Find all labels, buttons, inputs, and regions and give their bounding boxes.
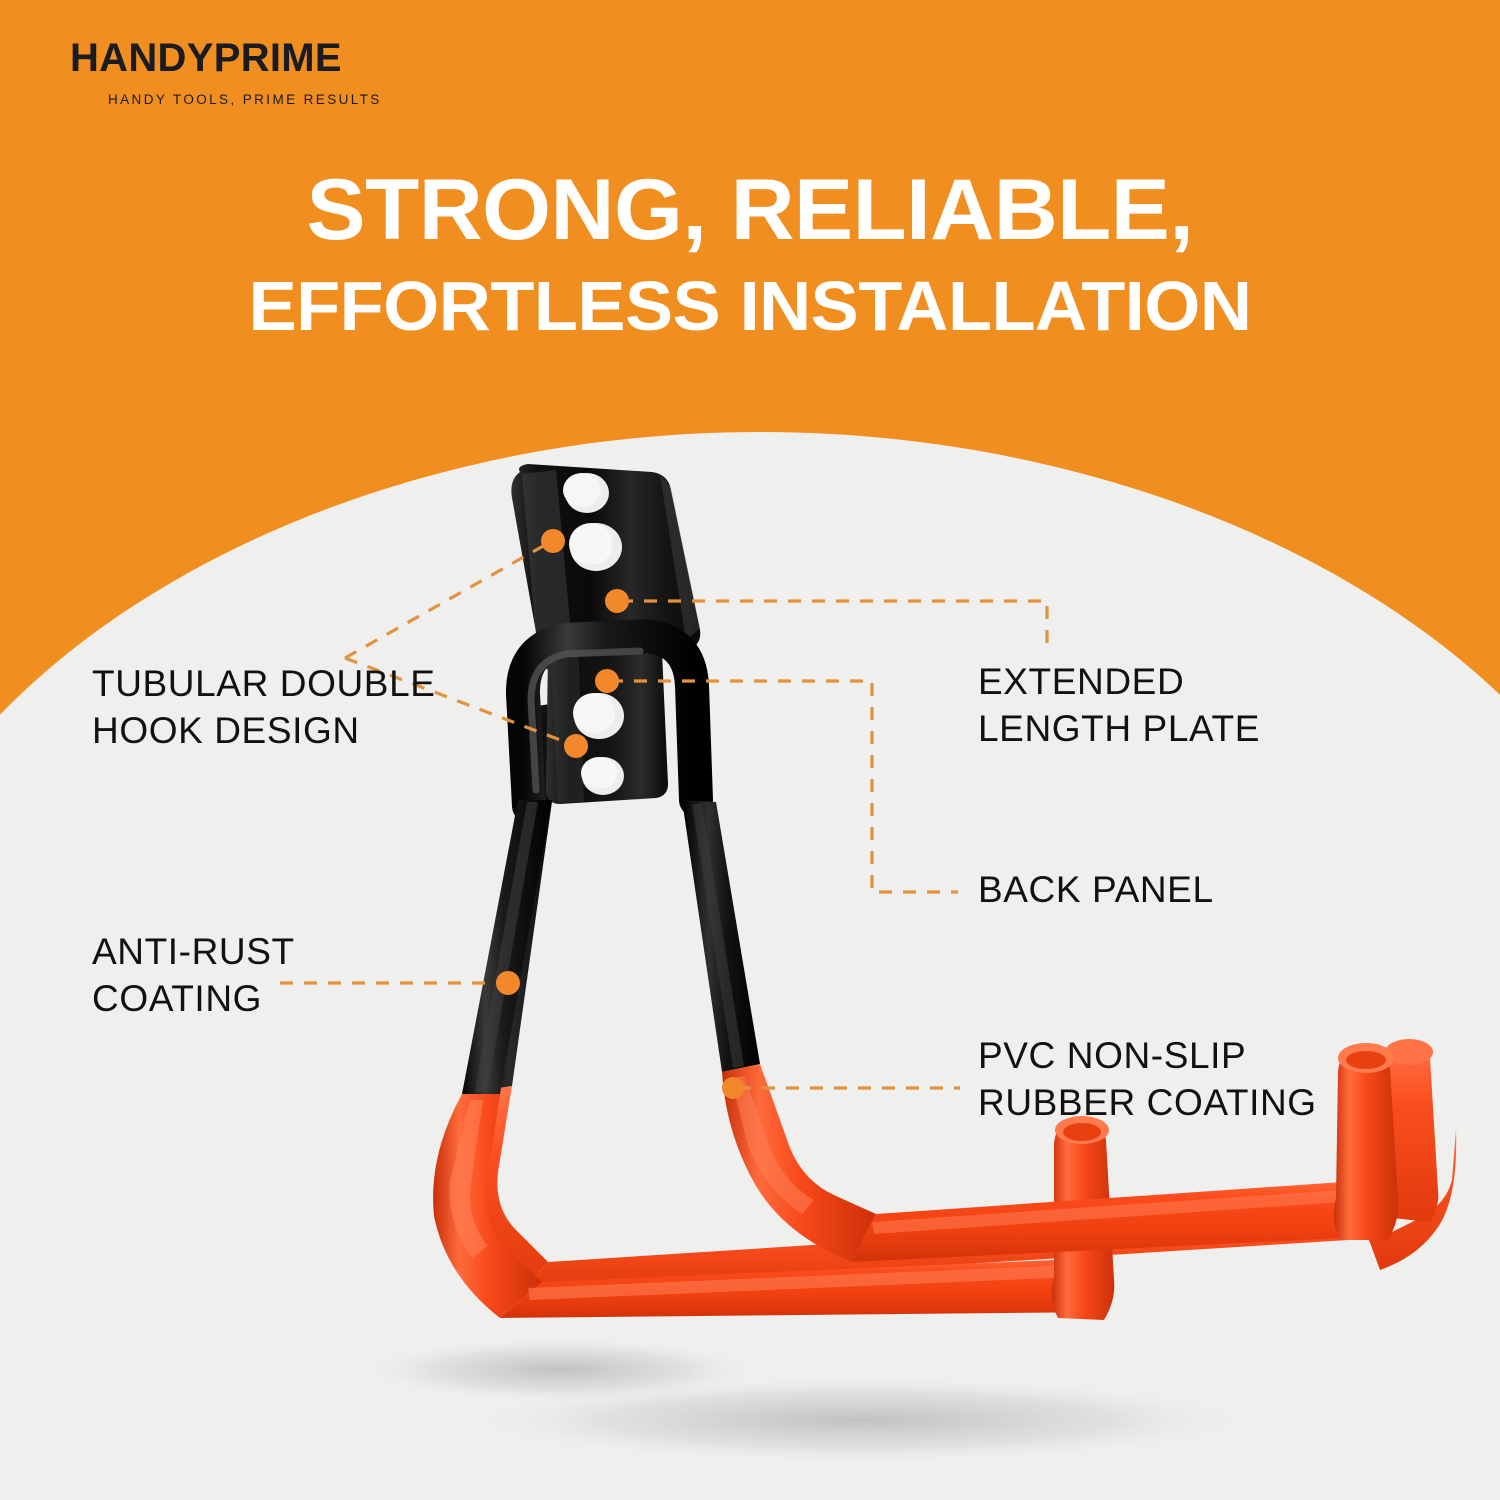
infographic-canvas: HANDYPRIME HANDY TOOLS, PRIME RESULTS ST… <box>0 0 1500 1500</box>
screw-hole-1-shade <box>563 473 601 507</box>
product-shadow-left <box>350 1336 770 1404</box>
hook-back-assembly <box>458 464 1456 1292</box>
screw-hole-3-shade <box>573 693 615 733</box>
callout-label-anti-rust-coating: ANTI-RUST COATING <box>92 928 295 1023</box>
callout-label-back-panel: BACK PANEL <box>978 866 1214 913</box>
front-pvc-right-post <box>1334 1046 1399 1240</box>
screw-hole-2-shade <box>569 523 613 565</box>
screw-hole-4-shade <box>581 757 617 789</box>
right-post-tip-inner <box>1346 1051 1386 1069</box>
callout-label-tubular-double-hook-design: TUBULAR DOUBLE HOOK DESIGN <box>92 660 436 755</box>
callout-label-pvc-non-slip-rubber-coating: PVC NON-SLIP RUBBER COATING <box>978 1032 1317 1127</box>
callout-label-extended-length-plate: EXTENDED LENGTH PLATE <box>978 658 1260 753</box>
